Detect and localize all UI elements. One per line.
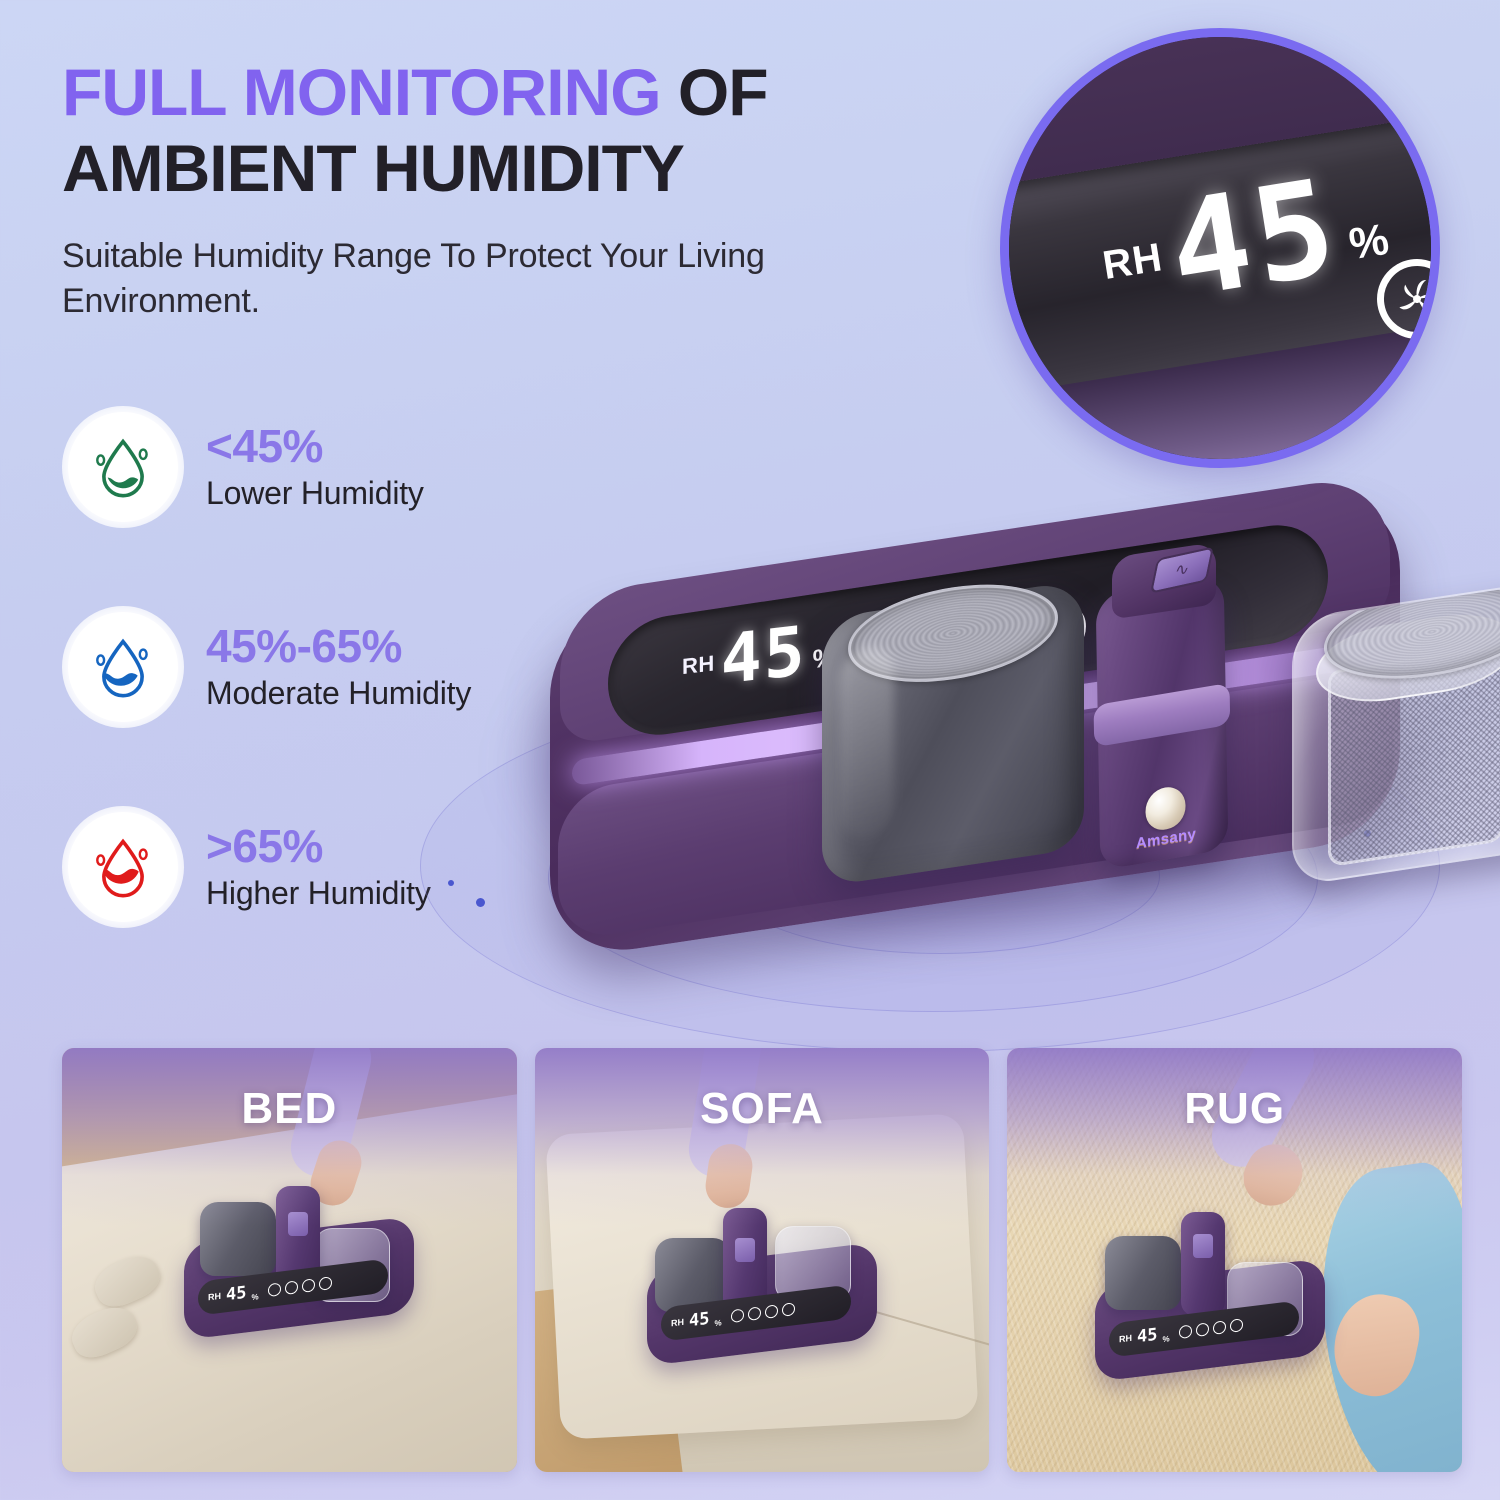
- rh-label: RH: [1100, 235, 1170, 316]
- use-case-panels: RH 45 % BED: [62, 1048, 1462, 1472]
- headline-of-text: OF: [661, 55, 768, 129]
- feature-text-low: <45% Lower Humidity: [206, 422, 424, 512]
- humidity-icon-badge-high: [62, 806, 184, 928]
- headline-accent-text: FULL MONITORING: [62, 55, 661, 129]
- ring-dot: [448, 880, 454, 886]
- dust-canister-left[interactable]: [822, 580, 1084, 887]
- dust-canister-right-clear[interactable]: [1292, 577, 1500, 887]
- scene-label: BED: [62, 1084, 517, 1134]
- feature-text-high: >65% Higher Humidity: [206, 822, 431, 912]
- pearl-logo-icon: [1145, 784, 1186, 833]
- power-button[interactable]: ∿: [1150, 546, 1214, 593]
- scene-panel-rug: RH 45 % RUG: [1007, 1048, 1462, 1472]
- handle-collar: [1094, 683, 1231, 748]
- water-drop-icon: [89, 833, 157, 901]
- magnifier-callout: RH 45 %: [1000, 28, 1440, 468]
- scene-panel-sofa: RH 45 % SOFA: [535, 1048, 990, 1472]
- water-drop-icon: [89, 433, 157, 501]
- humidity-value: >65%: [206, 822, 431, 872]
- humidity-icon-badge-moderate: [62, 606, 184, 728]
- water-drop-icon: [89, 633, 157, 701]
- headline-line-1: FULL MONITORING OF: [62, 58, 962, 128]
- brand-logo: Amsany: [1125, 781, 1206, 854]
- humidity-value: <45%: [206, 422, 424, 472]
- humidity-icon-badge-low: [62, 406, 184, 528]
- scene-panel-bed: RH 45 % BED: [62, 1048, 517, 1472]
- humidity-digits: 45: [721, 621, 807, 692]
- scene-label: SOFA: [535, 1084, 990, 1134]
- humidity-label: Higher Humidity: [206, 874, 431, 912]
- ring-dot: [476, 898, 485, 907]
- headline-block: FULL MONITORING OF AMBIENT HUMIDITY Suit…: [62, 58, 962, 324]
- humidity-digits: 45: [1163, 173, 1345, 306]
- scene-label: RUG: [1007, 1084, 1462, 1134]
- humidity-label: Lower Humidity: [206, 474, 424, 512]
- headline-line-2: AMBIENT HUMIDITY: [62, 132, 962, 206]
- rh-label: RH: [682, 651, 715, 697]
- product-handle[interactable]: Amsany ∿: [1098, 528, 1226, 867]
- humidity-readout: RH 45 %: [682, 617, 836, 696]
- handle-body: Amsany: [1096, 574, 1229, 871]
